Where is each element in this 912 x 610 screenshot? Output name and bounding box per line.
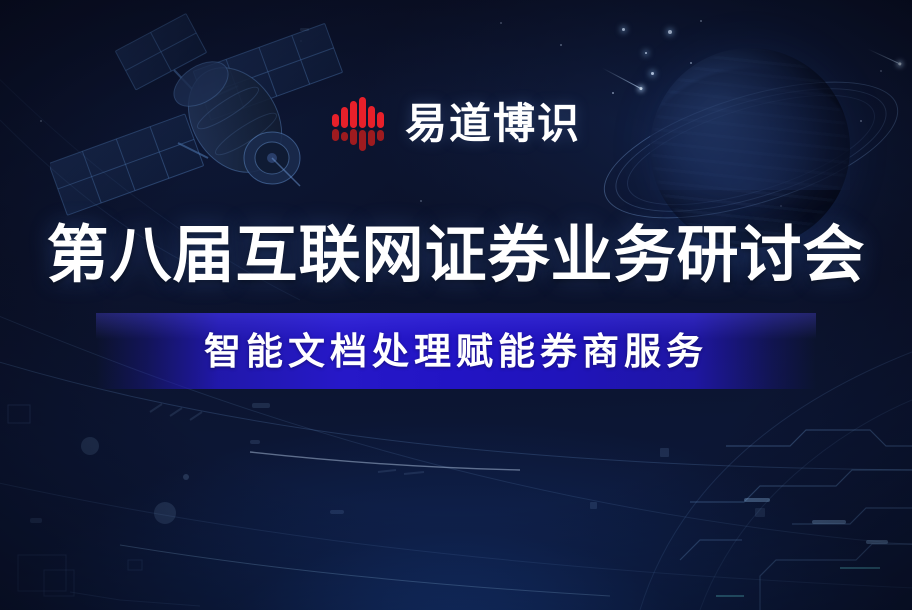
subtitle-band: 智能文档处理赋能券商服务 (96, 313, 816, 389)
brand-name: 易道博识 (405, 103, 581, 145)
poster-content: 易道博识 第八届互联网证券业务研讨会 智能文档处理赋能券商服务 (0, 0, 912, 610)
conference-poster: 易道博识 第八届互联网证券业务研讨会 智能文档处理赋能券商服务 (0, 0, 912, 610)
waveform-logo-icon (331, 96, 387, 152)
page-title: 第八届互联网证券业务研讨会 (0, 225, 912, 287)
subtitle-text: 智能文档处理赋能券商服务 (204, 333, 708, 370)
brand-lockup: 易道博识 (0, 96, 912, 152)
